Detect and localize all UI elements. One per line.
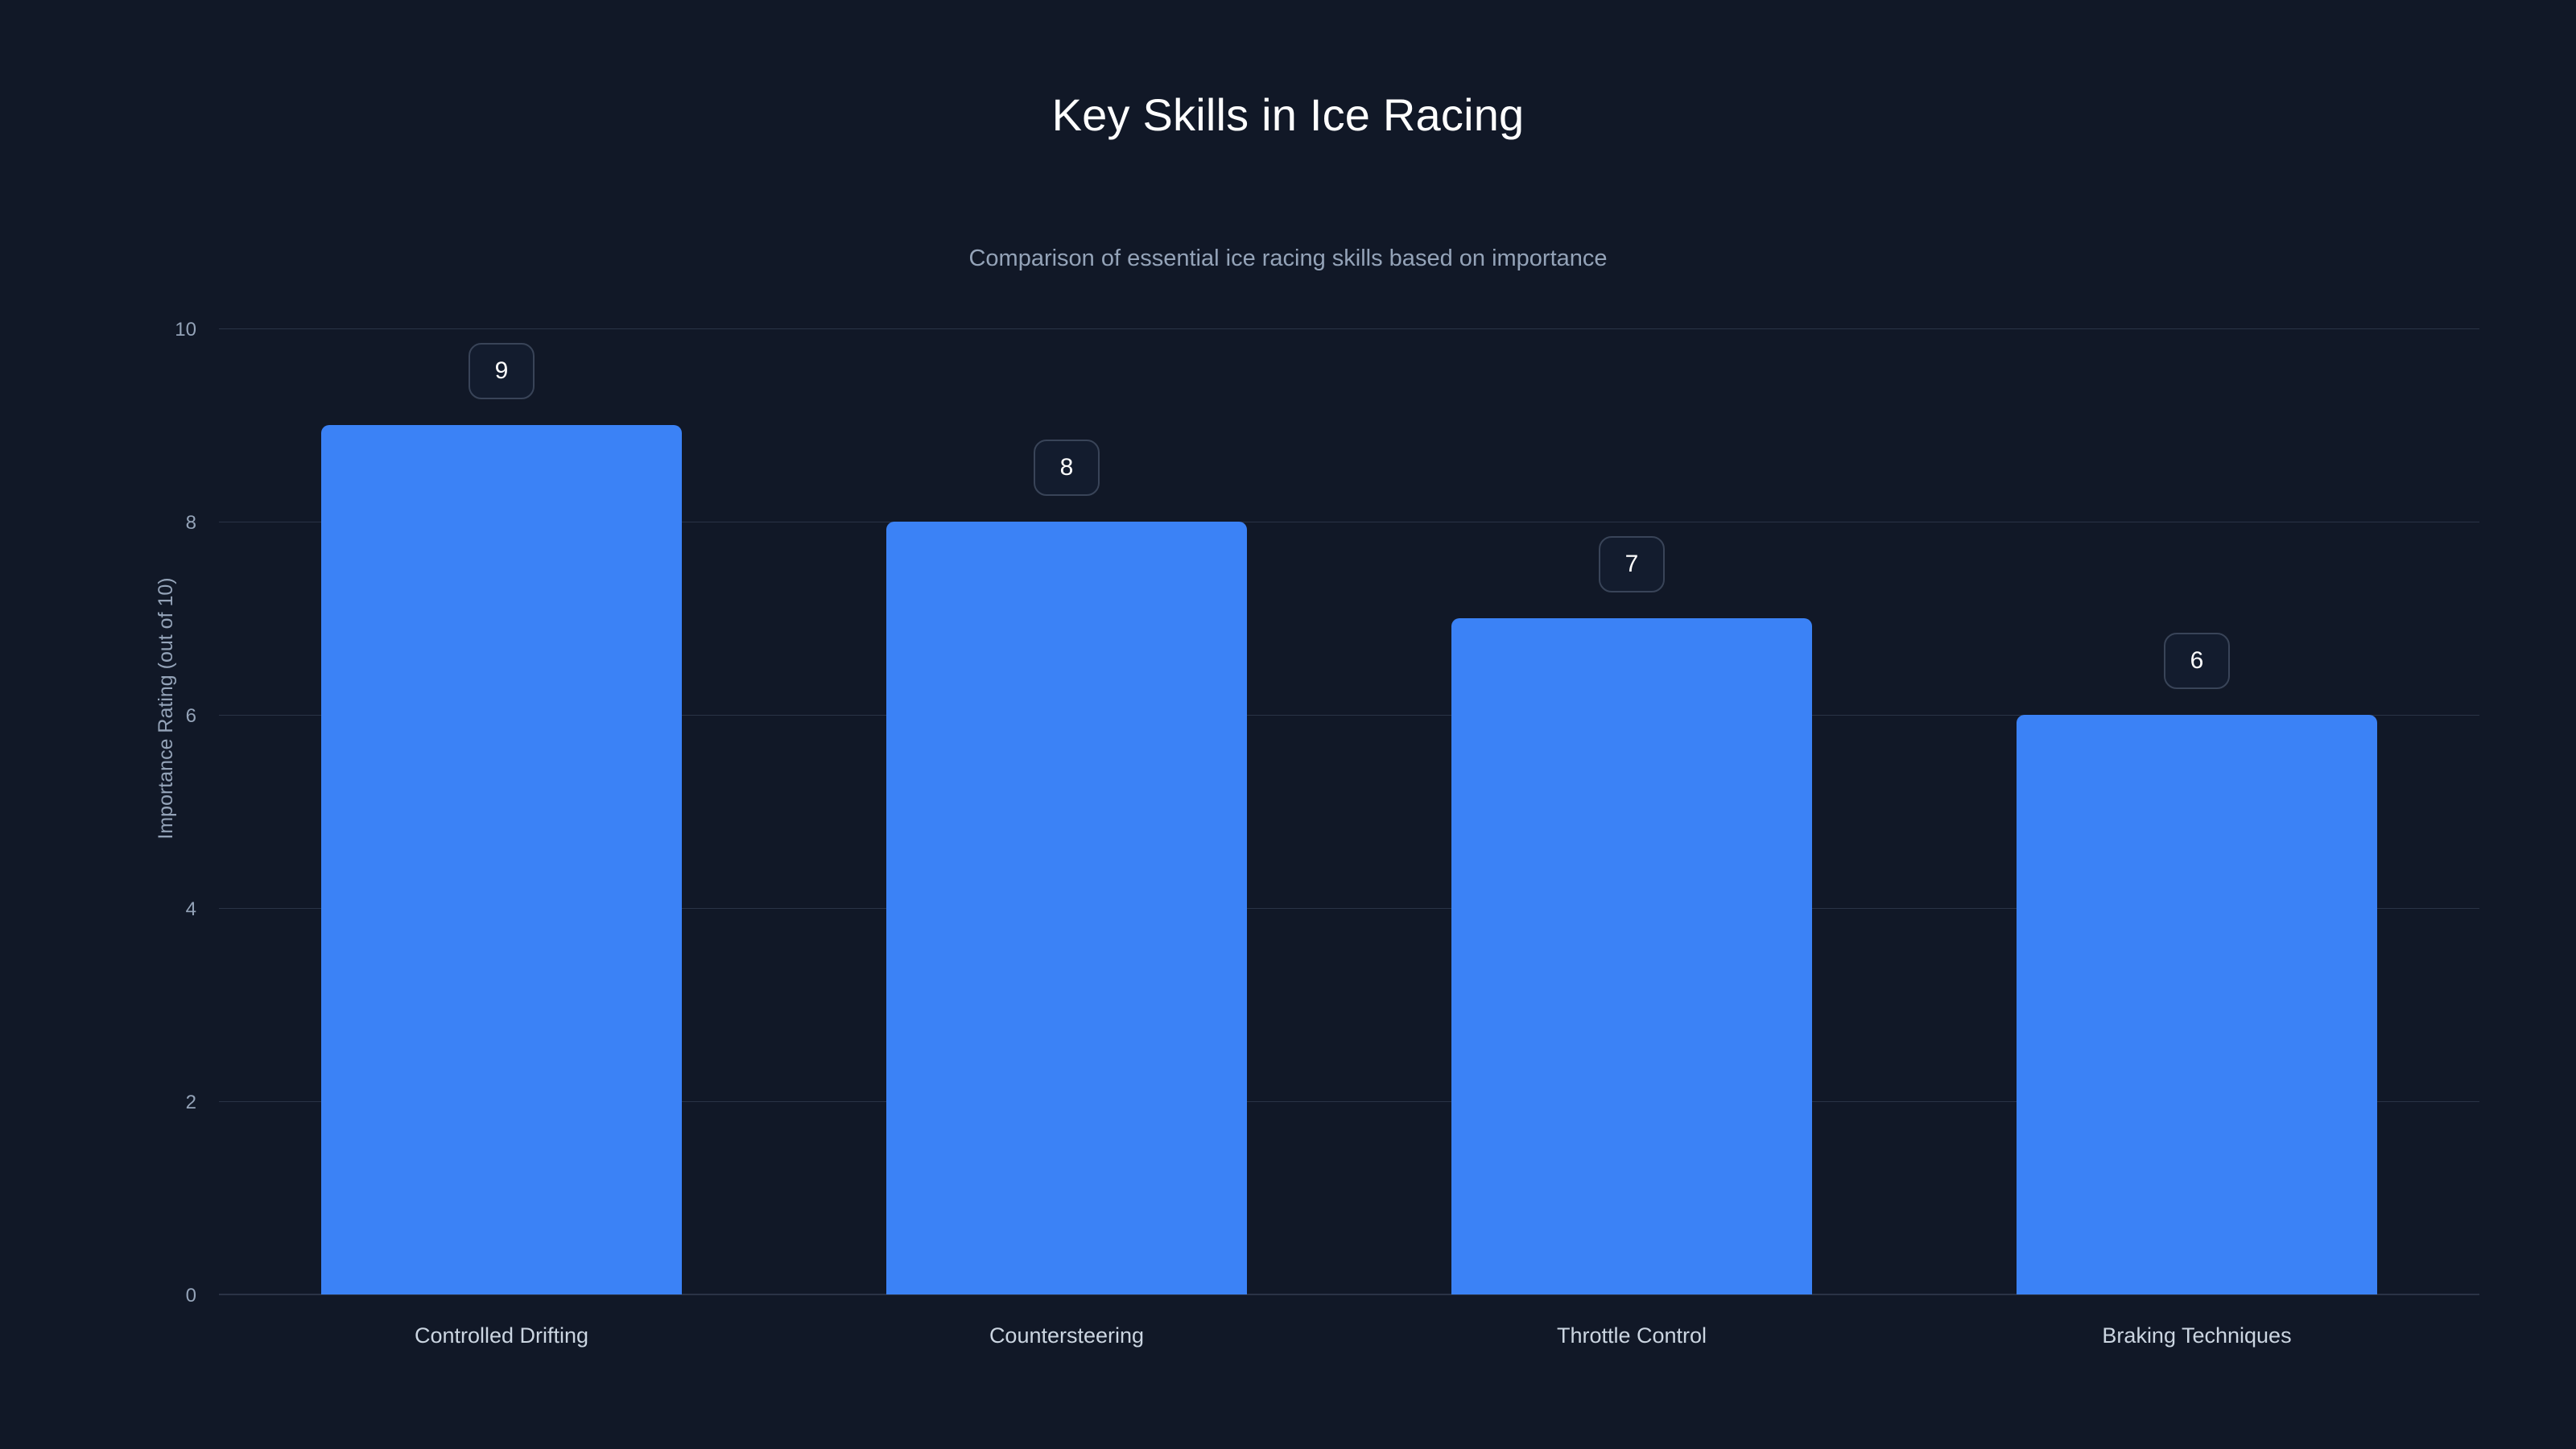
value-badge-controlled-drifting: 9 [469,343,535,399]
y-tick-label-8: 8 [113,514,196,533]
bar-countersteering[interactable] [886,522,1247,1294]
y-tick-label-4: 4 [113,900,196,919]
value-badge-countersteering: 8 [1034,440,1100,496]
x-label-braking-techniques: Braking Techniques [1914,1325,2479,1347]
y-tick-label-2: 2 [113,1093,196,1113]
x-label-countersteering: Countersteering [784,1325,1349,1347]
y-tick-label-6: 6 [113,707,196,726]
chart-title: Key Skills in Ice Racing [0,92,2576,139]
gridline-10 [219,328,2479,329]
y-tick-label-10: 10 [113,320,196,340]
value-badge-throttle-control: 7 [1599,536,1665,592]
plot-area [219,328,2479,1294]
bar-braking-techniques[interactable] [2017,715,2377,1294]
bar-throttle-control[interactable] [1451,618,1812,1294]
bar-controlled-drifting[interactable] [321,425,682,1294]
value-badge-braking-techniques: 6 [2164,633,2230,689]
chart-canvas: Key Skills in Ice Racing Comparison of e… [0,0,2576,1449]
y-tick-label-0: 0 [113,1286,196,1306]
x-label-controlled-drifting: Controlled Drifting [219,1325,784,1347]
chart-subtitle: Comparison of essential ice racing skill… [0,246,2576,272]
x-label-throttle-control: Throttle Control [1349,1325,1914,1347]
